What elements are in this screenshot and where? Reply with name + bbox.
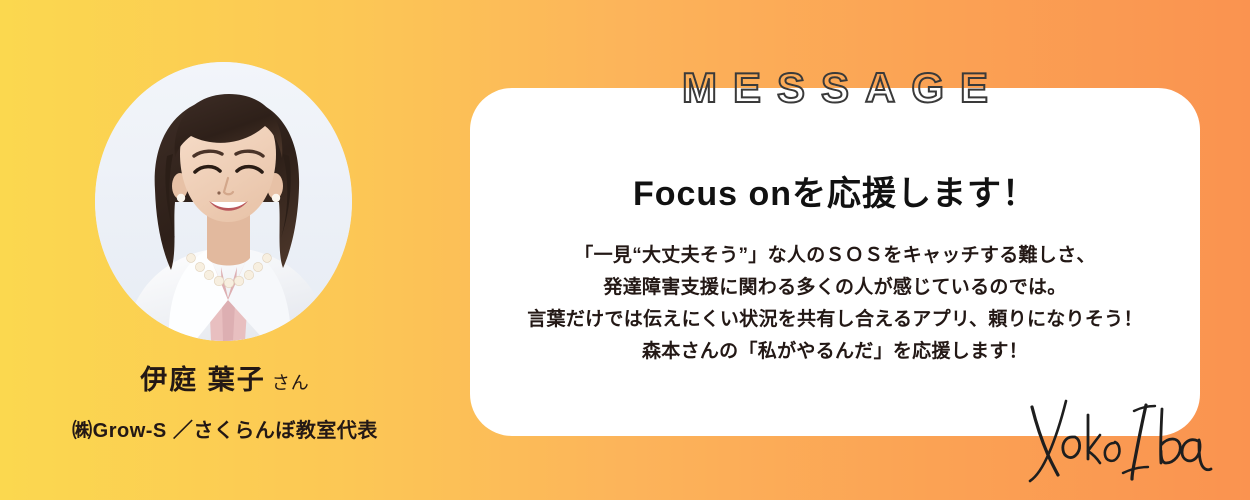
message-card: Focus onを応援します！ 「一見“大丈夫そう”」な人のＳＯＳをキャッチする…: [470, 88, 1200, 436]
portrait-photo-icon: [95, 62, 352, 341]
profile-name: 伊庭 葉子さん: [0, 358, 450, 397]
profile-name-text: 伊庭 葉子: [140, 365, 266, 395]
message-headline: Focus onを応援します！: [470, 166, 1200, 215]
message-body-line: 発達障害支援に関わる多くの人が感じているのでは。: [470, 272, 1200, 304]
message-body: 「一見“大丈夫そう”」な人のＳＯＳをキャッチする難しさ、 発達障害支援に関わる多…: [470, 240, 1200, 368]
profile-affiliation: ㈱Grow-S ／さくらんぼ教室代表: [0, 414, 450, 443]
message-body-line: 「一見“大丈夫そう”」な人のＳＯＳをキャッチする難しさ、: [470, 240, 1200, 272]
profile-column: 伊庭 葉子さん ㈱Grow-S ／さくらんぼ教室代表: [0, 0, 450, 500]
testimonial-banner: 伊庭 葉子さん ㈱Grow-S ／さくらんぼ教室代表 Focus onを応援しま…: [0, 0, 1250, 500]
message-title: MESSAGE: [470, 67, 1200, 109]
profile-name-honorific: さん: [272, 373, 310, 393]
avatar: [95, 62, 352, 341]
message-body-line: 言葉だけでは伝えにくい状況を共有し合えるアプリ、頼りになりそう！: [470, 304, 1200, 336]
message-body-line: 森本さんの「私がやるんだ」を応援します！: [470, 336, 1200, 368]
